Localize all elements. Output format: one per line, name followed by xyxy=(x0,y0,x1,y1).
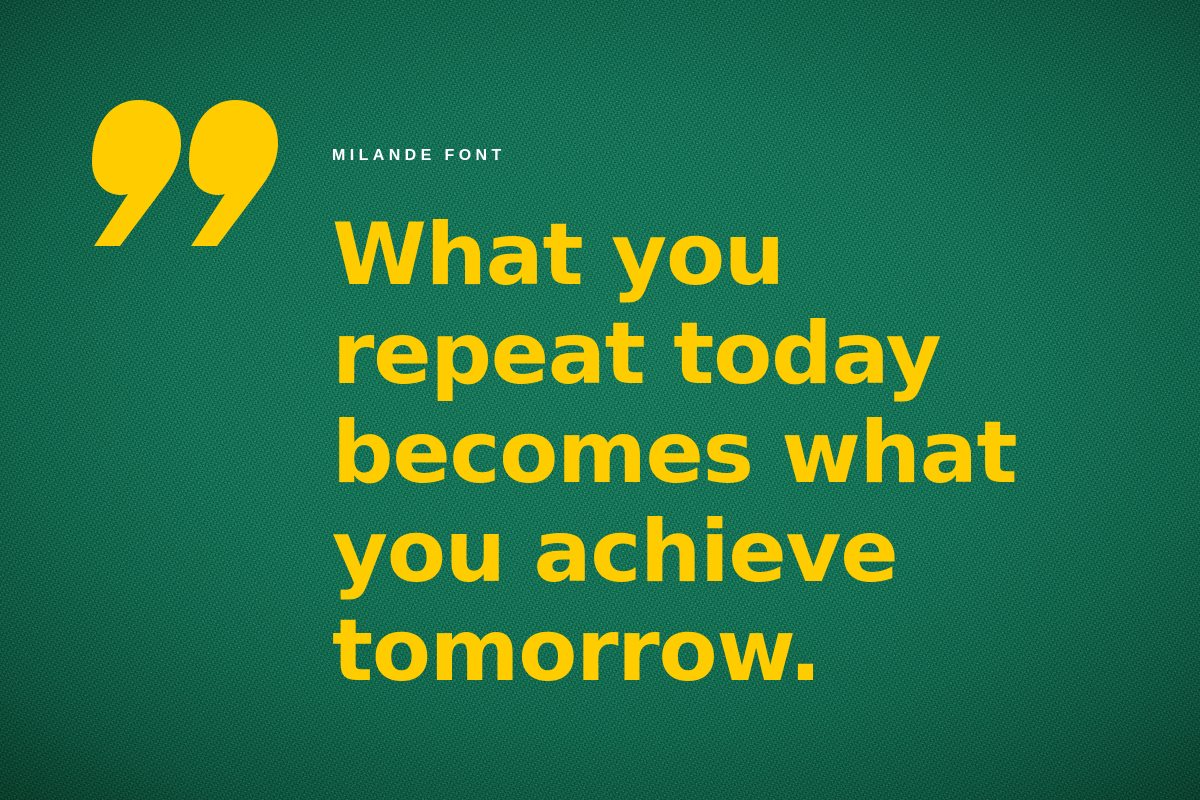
poster-content: MILANDE FONT What you repeat today becom… xyxy=(0,0,1200,800)
headline-line: becomes what xyxy=(332,404,1132,503)
quote-headline: What you repeat today becomes what you a… xyxy=(332,206,1132,701)
quotation-mark-icon xyxy=(92,100,284,246)
headline-line: tomorrow. xyxy=(332,602,1132,701)
poster-canvas: MILANDE FONT What you repeat today becom… xyxy=(0,0,1200,800)
headline-line: What you xyxy=(332,206,1132,305)
font-name-label: MILANDE FONT xyxy=(332,145,506,167)
headline-line: you achieve xyxy=(332,503,1132,602)
headline-line: repeat today xyxy=(332,305,1132,404)
